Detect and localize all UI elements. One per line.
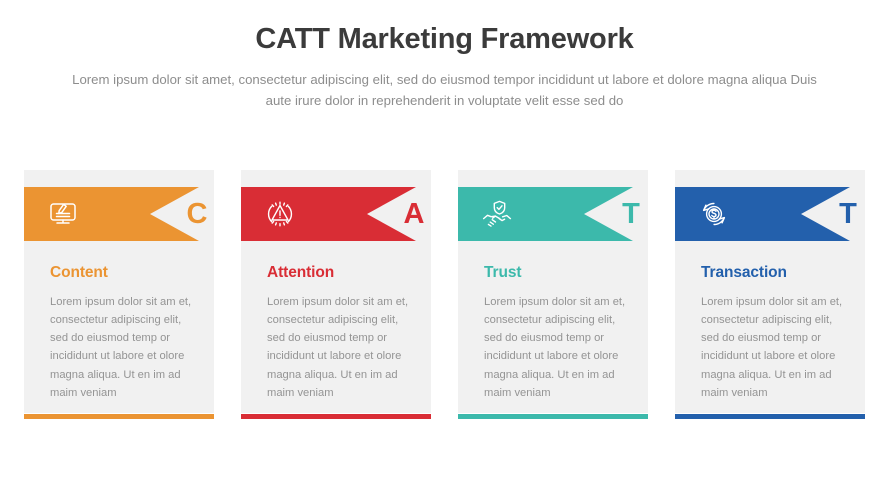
card-body-trust: Trust Lorem ipsum dolor sit am et, conse… (484, 264, 632, 402)
card-title-content: Content (50, 264, 198, 282)
ribbon-transaction (675, 187, 850, 241)
ribbon-letter-transaction: T (825, 187, 871, 241)
card-description-content: Lorem ipsum dolor sit am et, consectetur… (50, 293, 198, 402)
card-description-transaction: Lorem ipsum dolor sit am et, consectetur… (701, 293, 849, 402)
ribbon-attention (241, 187, 416, 241)
card-title-transaction: Transaction (701, 264, 849, 282)
handshake-shield-icon (480, 197, 514, 231)
money-cycle-icon (697, 197, 731, 231)
card-trust[interactable]: T Trust Lorem ipsum dolor sit am et, con… (458, 170, 648, 413)
card-accent-content (24, 414, 214, 419)
card-accent-trust (458, 414, 648, 419)
ribbon-letter-content: C (174, 187, 220, 241)
header: CATT Marketing Framework Lorem ipsum dol… (0, 0, 889, 112)
infographic-page: CATT Marketing Framework Lorem ipsum dol… (0, 0, 889, 500)
ribbon-letter-trust: T (608, 187, 654, 241)
monitor-pencil-icon (46, 197, 80, 231)
card-description-attention: Lorem ipsum dolor sit am et, consectetur… (267, 293, 415, 402)
page-subtitle: Lorem ipsum dolor sit amet, consectetur … (60, 69, 830, 112)
cards-row: C Content Lorem ipsum dolor sit am et, c… (24, 170, 865, 413)
card-title-trust: Trust (484, 264, 632, 282)
card-body-transaction: Transaction Lorem ipsum dolor sit am et,… (701, 264, 849, 402)
ribbon-letter-attention: A (391, 187, 437, 241)
page-title: CATT Marketing Framework (0, 22, 889, 57)
card-content[interactable]: C Content Lorem ipsum dolor sit am et, c… (24, 170, 214, 413)
card-body-attention: Attention Lorem ipsum dolor sit am et, c… (267, 264, 415, 402)
card-transaction[interactable]: T Transaction Lorem ipsum dolor sit am e… (675, 170, 865, 413)
alert-triangle-icon (263, 197, 297, 231)
card-body-content: Content Lorem ipsum dolor sit am et, con… (50, 264, 198, 402)
card-description-trust: Lorem ipsum dolor sit am et, consectetur… (484, 293, 632, 402)
ribbon-trust (458, 187, 633, 241)
card-attention[interactable]: A Attention Lorem ipsum dolor sit am et,… (241, 170, 431, 413)
card-accent-transaction (675, 414, 865, 419)
card-accent-attention (241, 414, 431, 419)
card-title-attention: Attention (267, 264, 415, 282)
ribbon-content (24, 187, 199, 241)
